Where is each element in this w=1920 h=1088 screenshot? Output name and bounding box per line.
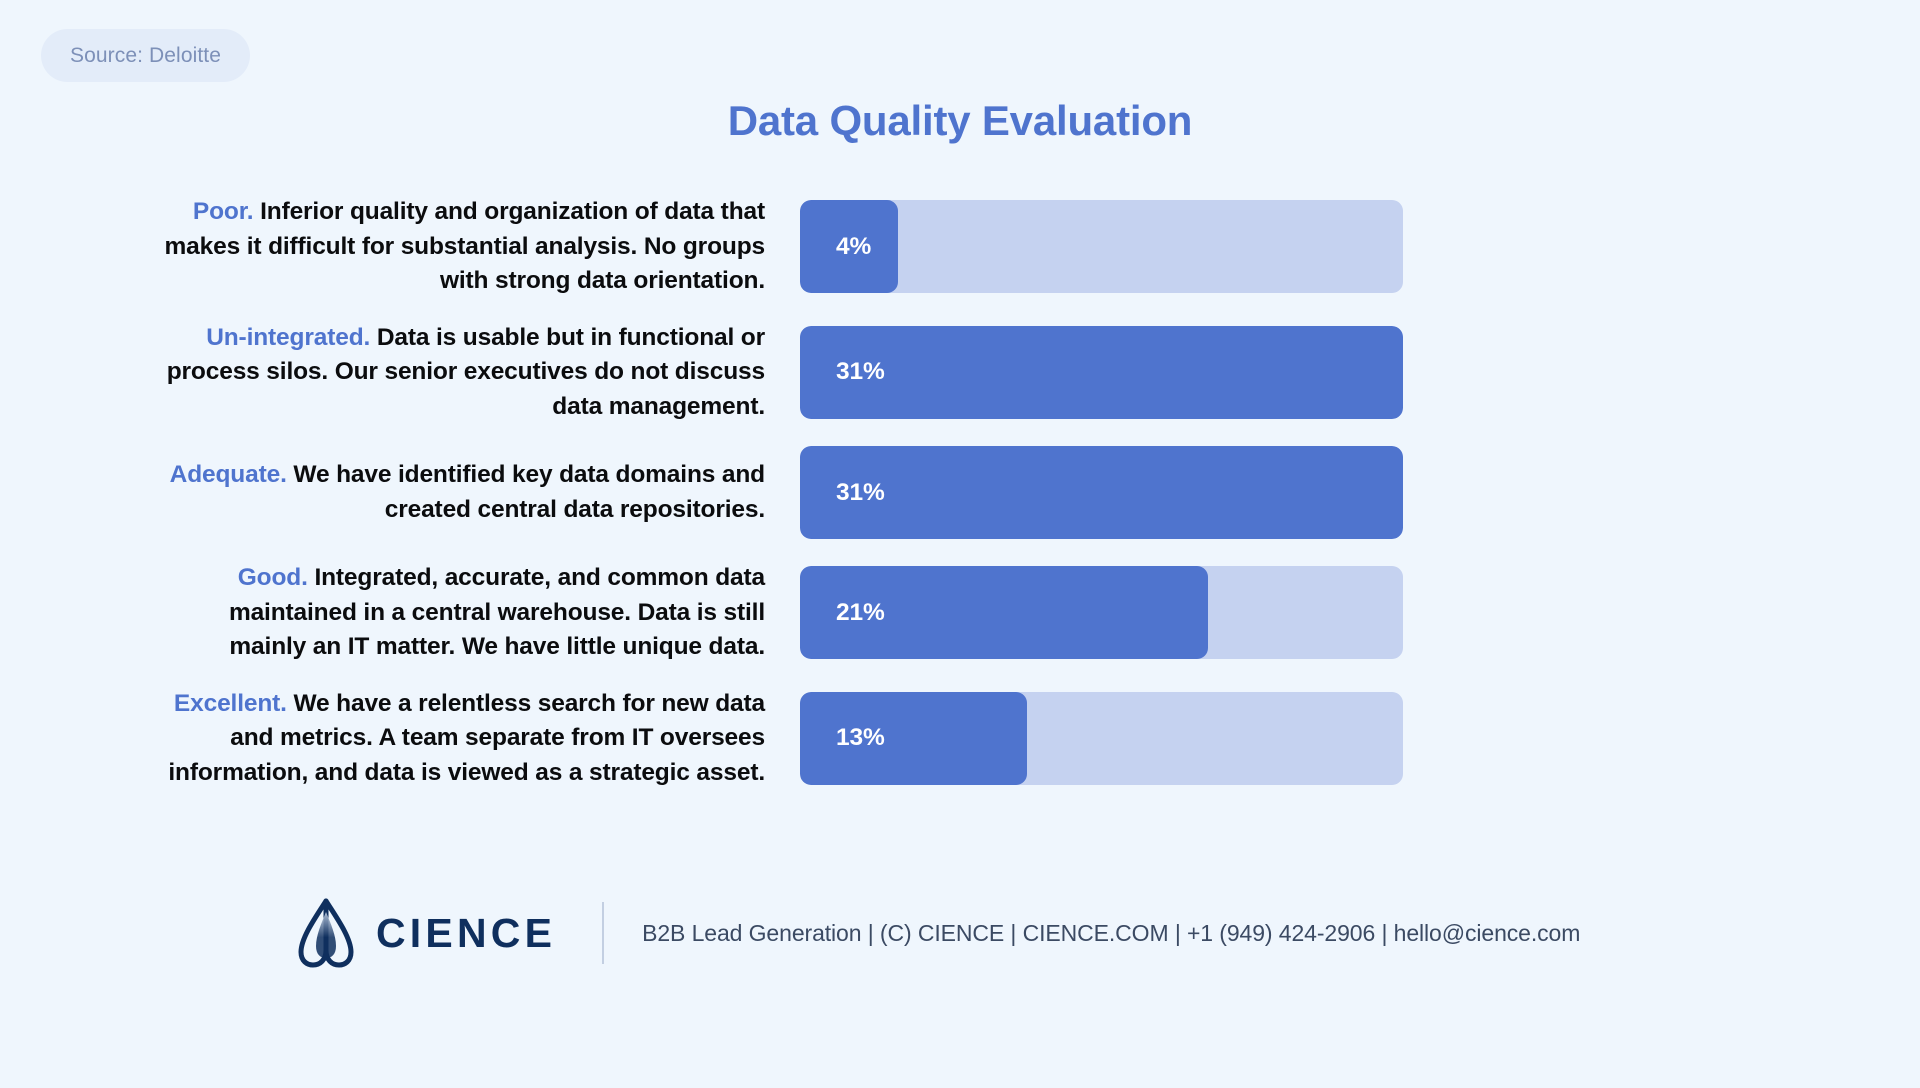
row-description: Inferior quality and organization of dat… <box>165 198 765 294</box>
row-description: Integrated, accurate, and common data ma… <box>229 564 765 660</box>
footer: CIENCE B2B Lead Generation | (C) CIENCE … <box>0 898 1920 968</box>
bar-track: 4% <box>800 200 1403 293</box>
bar-value-label: 31% <box>836 358 885 386</box>
row-label: Un-integrated. Data is usable but in fun… <box>160 321 800 425</box>
bar-track: 31% <box>800 326 1403 419</box>
row-label: Good. Integrated, accurate, and common d… <box>160 561 800 665</box>
bar-value-label: 13% <box>836 724 885 752</box>
chart-row: Un-integrated. Data is usable but in fun… <box>160 321 1760 425</box>
row-label: Excellent. We have a relentless search f… <box>160 687 800 791</box>
bar-fill <box>800 446 1403 539</box>
bar-value-label: 31% <box>836 479 885 507</box>
row-term: Good. <box>238 564 308 591</box>
row-label: Poor. Inferior quality and organization … <box>160 195 800 299</box>
footer-inner: CIENCE B2B Lead Generation | (C) CIENCE … <box>285 898 1635 968</box>
bar-value-label: 4% <box>836 233 871 261</box>
page-title: Data Quality Evaluation <box>0 97 1920 145</box>
chart-row: Poor. Inferior quality and organization … <box>160 195 1760 299</box>
row-term: Adequate. <box>170 461 287 488</box>
row-label: Adequate. We have identified key data do… <box>160 458 800 527</box>
row-description: We have identified key data domains and … <box>293 461 765 523</box>
row-term: Poor. <box>193 198 254 225</box>
bar-track: 13% <box>800 692 1403 785</box>
chart-row: Adequate. We have identified key data do… <box>160 446 1760 539</box>
row-term: Excellent. <box>174 690 287 717</box>
footer-divider <box>602 902 604 964</box>
bar-fill <box>800 692 1027 785</box>
chart-row: Good. Integrated, accurate, and common d… <box>160 561 1760 665</box>
row-term: Un-integrated. <box>206 324 370 351</box>
bar-fill <box>800 326 1403 419</box>
source-badge: Source: Deloitte <box>41 29 250 82</box>
brand-logo: CIENCE <box>295 898 556 968</box>
bar-value-label: 21% <box>836 599 885 627</box>
chart-row: Excellent. We have a relentless search f… <box>160 687 1760 791</box>
source-badge-label: Source: Deloitte <box>70 44 221 68</box>
bar-track: 31% <box>800 446 1403 539</box>
brand-wordmark: CIENCE <box>376 910 556 957</box>
bar-chart: Poor. Inferior quality and organization … <box>0 195 1920 790</box>
bar-track: 21% <box>800 566 1403 659</box>
cience-arch-logo-icon <box>295 898 357 968</box>
footer-contact-text: B2B Lead Generation | (C) CIENCE | CIENC… <box>642 920 1580 947</box>
